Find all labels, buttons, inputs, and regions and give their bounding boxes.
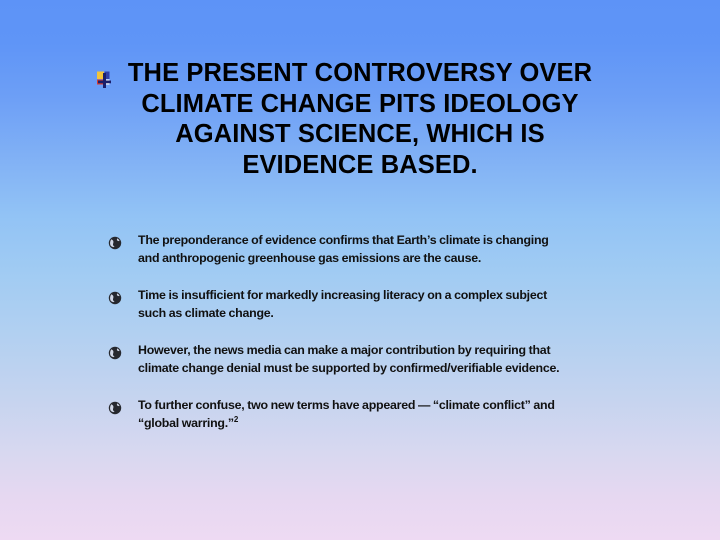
- list-item-line-2: climate change denial must be supported …: [138, 360, 660, 378]
- globe-icon: [108, 291, 122, 305]
- list-item-line-2-text: “global warring.”: [138, 416, 234, 430]
- globe-icon: [108, 236, 122, 250]
- list-item-line-1: Time is insufficient for markedly increa…: [138, 287, 660, 305]
- list-item-line-1: The preponderance of evidence confirms t…: [138, 232, 660, 250]
- globe-icon: [108, 401, 122, 415]
- list-item-line-2: such as climate change.: [138, 305, 660, 323]
- presentation-slide: THE PRESENT CONTROVERSY OVER CLIMATE CHA…: [0, 0, 720, 540]
- list-item-line-1: To further confuse, two new terms have a…: [138, 397, 660, 415]
- list-item: The preponderance of evidence confirms t…: [108, 232, 660, 267]
- slide-title: THE PRESENT CONTROVERSY OVER CLIMATE CHA…: [60, 58, 660, 180]
- list-item: To further confuse, two new terms have a…: [108, 397, 660, 432]
- title-line-3: AGAINST SCIENCE, WHICH IS: [60, 119, 660, 150]
- footnote-marker: 2: [234, 414, 238, 423]
- list-item: Time is insufficient for markedly increa…: [108, 287, 660, 322]
- title-line-4: EVIDENCE BASED.: [60, 150, 660, 181]
- list-item-line-1: However, the news media can make a major…: [138, 342, 660, 360]
- title-line-1: THE PRESENT CONTROVERSY OVER: [60, 58, 660, 89]
- list-item-line-2: “global warring.”2: [138, 415, 660, 433]
- globe-icon: [108, 346, 122, 360]
- list-item-line-2: and anthropogenic greenhouse gas emissio…: [138, 250, 660, 268]
- title-line-2: CLIMATE CHANGE PITS IDEOLOGY: [60, 89, 660, 120]
- slide-body: The preponderance of evidence confirms t…: [108, 232, 660, 452]
- list-item: However, the news media can make a major…: [108, 342, 660, 377]
- pinwheel-icon: [96, 71, 113, 89]
